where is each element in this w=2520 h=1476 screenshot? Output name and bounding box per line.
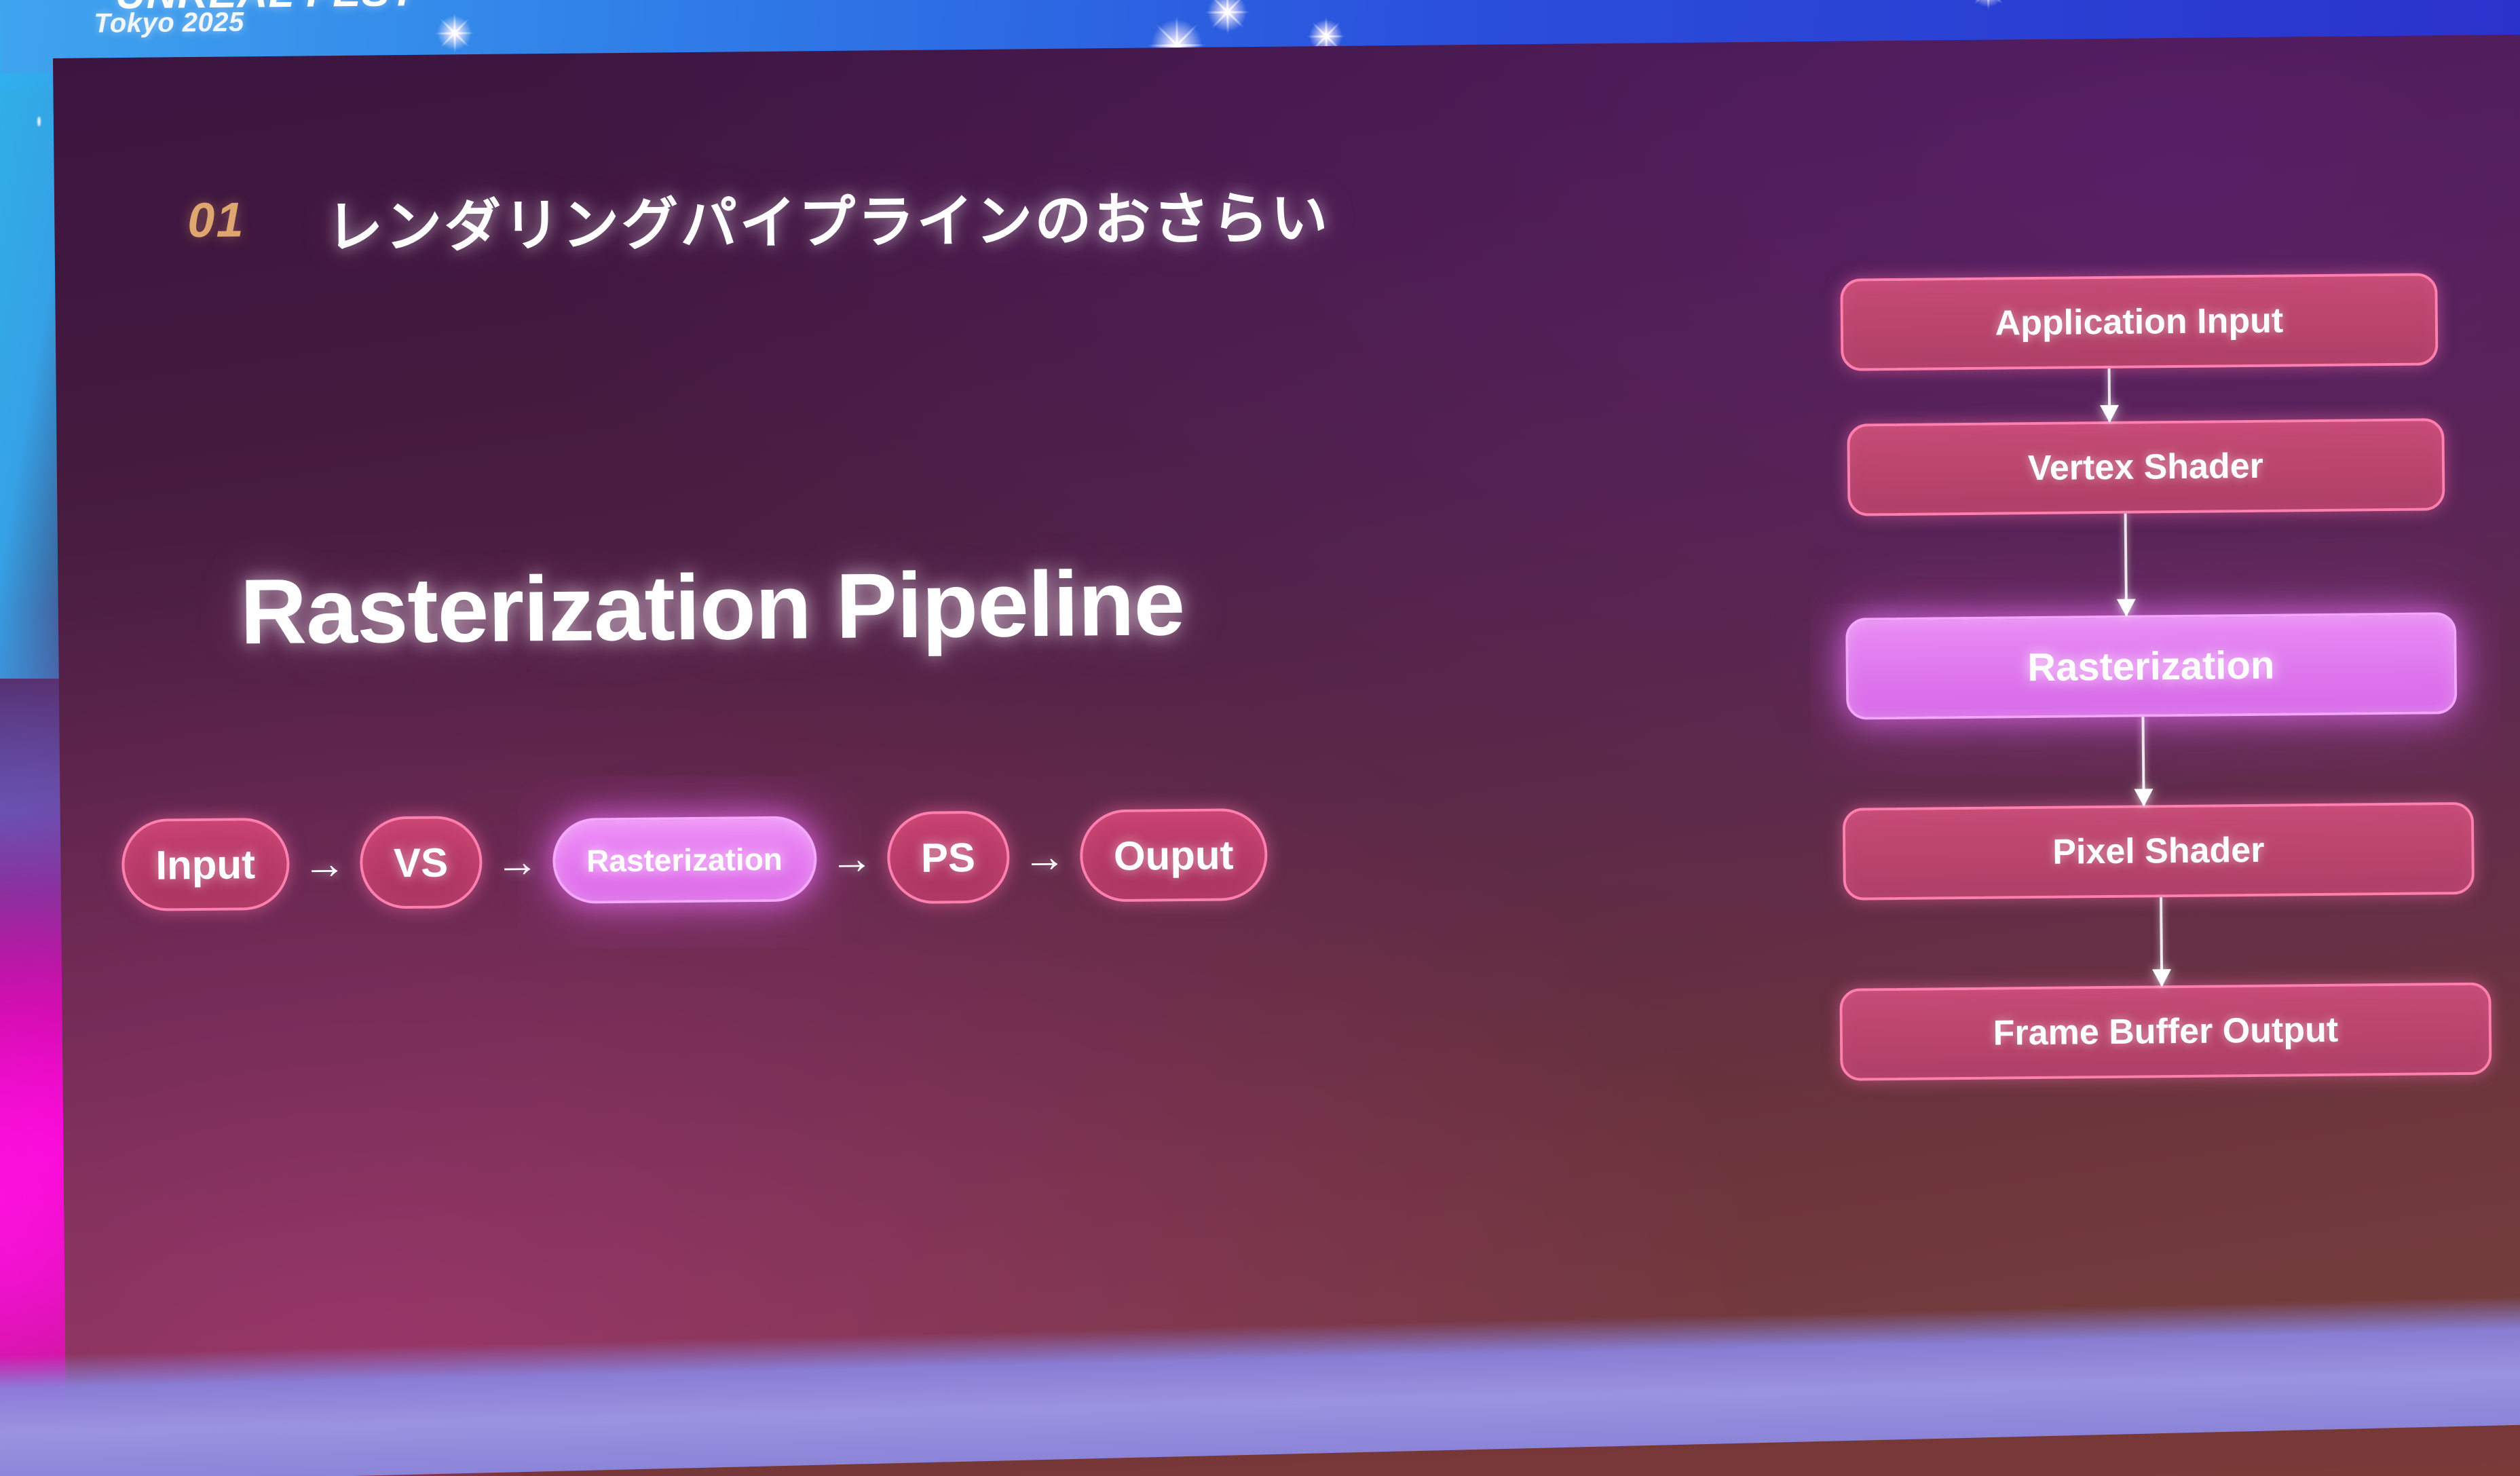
pipeline-chip-vs: VS: [359, 816, 482, 909]
arrow-right-icon: →: [482, 839, 553, 884]
pipeline-chip-rasterization: Rasterization: [552, 816, 816, 904]
flow-connector-arrow: [2108, 368, 2111, 421]
sparkle-star: [434, 13, 474, 53]
flow-connector-arrow: [2124, 514, 2128, 616]
presentation-slide: 01 レンダリングパイプラインのおさらい Rasterization Pipel…: [53, 35, 2520, 1422]
sparkle-star: [1205, 0, 1250, 35]
event-subtitle: Tokyo 2025: [94, 7, 244, 39]
page-title: Rasterization Pipeline: [240, 550, 1185, 664]
flow-node-row: Frame Buffer Output: [1866, 983, 2465, 1080]
flow-connector-arrow: [2160, 897, 2163, 985]
flow-connector-arrow: [2141, 717, 2145, 805]
dust-speck: [37, 117, 41, 126]
flow-node-rasterization: Rasterization: [1845, 612, 2457, 720]
arrow-right-icon: →: [1009, 835, 1080, 879]
flow-node-application-input: Application Input: [1840, 273, 2438, 371]
vertical-flowchart: Application Input Vertex Shader Rasteriz…: [1697, 273, 2465, 1082]
flow-node-row: Pixel Shader: [1854, 802, 2464, 901]
arrow-right-icon: →: [289, 841, 360, 886]
arrow-right-icon: →: [816, 836, 888, 880]
screenshot-root: UNREAL FEST Tokyo 2025 01 レンダリングパイプラインのお…: [0, 0, 2520, 1476]
sparkle-star: [1968, 0, 2008, 10]
horizontal-pipeline: Input → VS → Rasterization → PS → Ouput: [121, 808, 1268, 911]
section-number: 01: [187, 192, 245, 248]
flow-node-row: Vertex Shader: [1831, 418, 2460, 516]
flow-node-row: Rasterization: [1840, 612, 2462, 720]
flow-node-vertex-shader: Vertex Shader: [1847, 418, 2445, 516]
pipeline-chip-ps: PS: [886, 811, 1009, 905]
pipeline-chip-ouput: Ouput: [1079, 808, 1268, 903]
flow-node-frame-buffer-output: Frame Buffer Output: [1839, 983, 2491, 1081]
section-title: レンダリングパイプラインのおさらい: [326, 172, 1330, 264]
flow-node-row: Application Input: [1820, 273, 2458, 371]
pipeline-chip-input: Input: [121, 818, 290, 911]
flow-node-pixel-shader: Pixel Shader: [1843, 802, 2475, 901]
